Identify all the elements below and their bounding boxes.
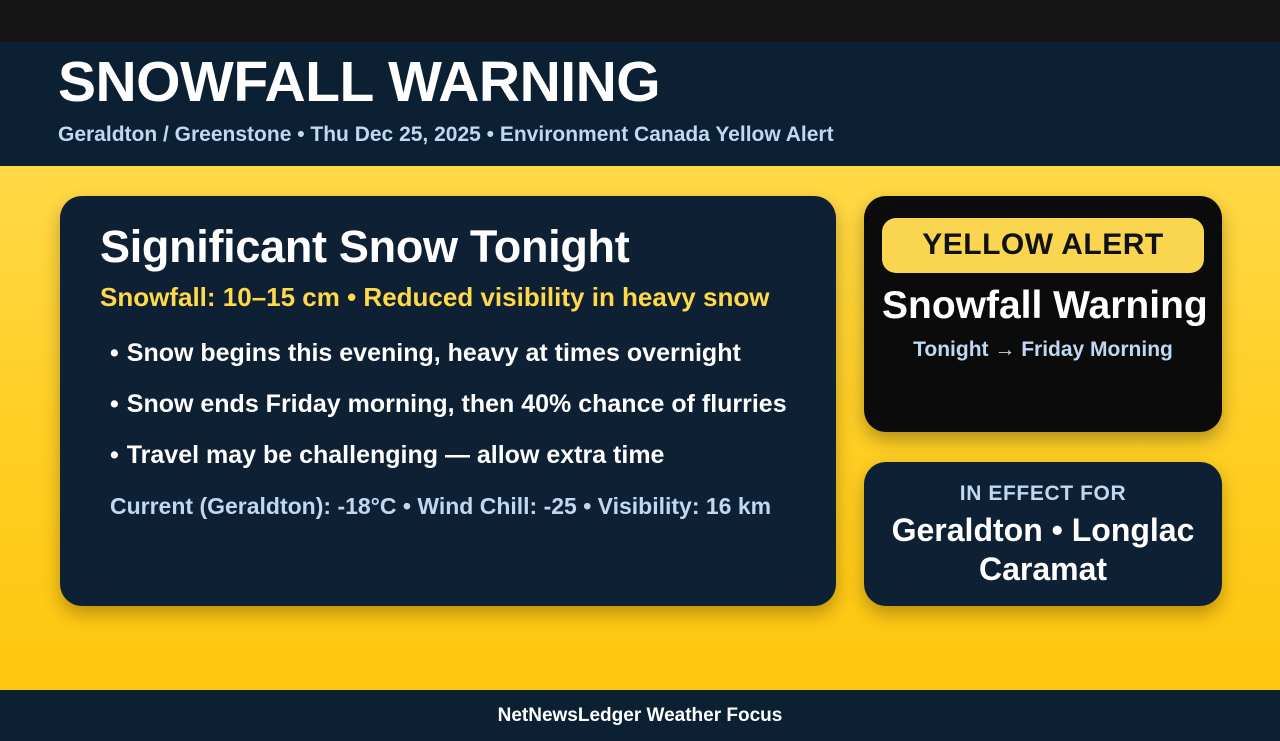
bullet-marker-icon: • <box>110 390 119 418</box>
bullet-marker-icon: • <box>110 441 119 469</box>
list-item-label: Travel may be challenging — allow extra … <box>127 441 665 469</box>
affected-areas: Geraldton • Longlac Caramat <box>876 511 1210 589</box>
forecast-bullet-list: •Snow begins this evening, heavy at time… <box>100 340 802 469</box>
current-conditions-line: Current (Geraldton): -18°C • Wind Chill:… <box>100 493 802 520</box>
main-card-subtitle: Snowfall: 10–15 cm • Reduced visibility … <box>100 282 802 313</box>
top-black-bar <box>0 0 1280 42</box>
list-item: •Travel may be challenging — allow extra… <box>100 442 802 468</box>
footer-branding: NetNewsLedger Weather Focus <box>498 705 783 727</box>
alert-level-card: YELLOW ALERT Snowfall Warning Tonight → … <box>864 196 1222 432</box>
list-item-label: Snow ends Friday morning, then 40% chanc… <box>127 390 787 418</box>
alert-headline: Snowfall Warning <box>882 285 1204 328</box>
list-item: •Snow ends Friday morning, then 40% chan… <box>100 391 802 417</box>
main-card-title: Significant Snow Tonight <box>100 222 802 272</box>
list-item: •Snow begins this evening, heavy at time… <box>100 340 802 366</box>
in-effect-card: IN EFFECT FOR Geraldton • Longlac Carama… <box>864 462 1222 606</box>
affected-areas-line-1: Geraldton • Longlac <box>876 511 1210 550</box>
list-item-label: Snow begins this evening, heavy at times… <box>127 339 741 367</box>
header-subtitle: Geraldton / Greenstone • Thu Dec 25, 202… <box>58 122 1280 147</box>
bullet-marker-icon: • <box>110 339 119 367</box>
weather-alert-graphic: SNOWFALL WARNING Geraldton / Greenstone … <box>0 0 1280 741</box>
footer-bar: NetNewsLedger Weather Focus <box>0 690 1280 741</box>
in-effect-label: IN EFFECT FOR <box>876 482 1210 506</box>
status-badge: YELLOW ALERT <box>882 218 1204 273</box>
alert-time-window: Tonight → Friday Morning <box>882 338 1204 362</box>
main-forecast-card: Significant Snow Tonight Snowfall: 10–15… <box>60 196 836 606</box>
affected-areas-line-2: Caramat <box>876 550 1210 589</box>
page-title: SNOWFALL WARNING <box>58 52 1280 114</box>
header-banner: SNOWFALL WARNING Geraldton / Greenstone … <box>0 42 1280 166</box>
